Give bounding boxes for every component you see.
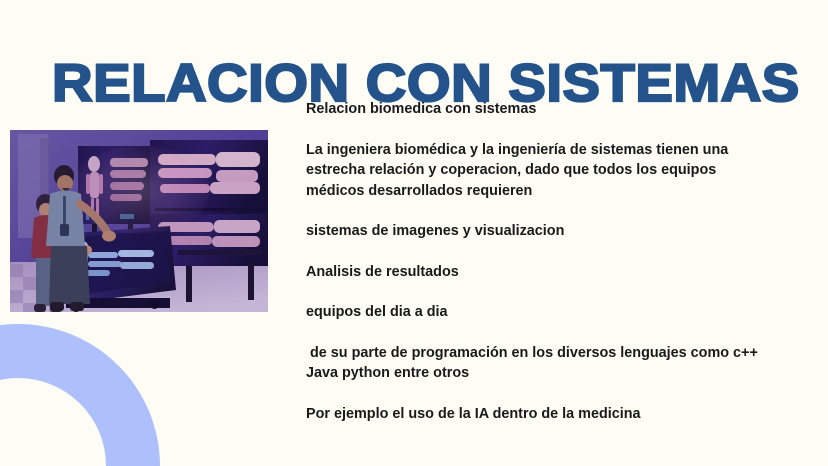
body-text-block: Relacion biomedica con sistemas La ingen… <box>306 99 776 424</box>
anatomy-table-illustration <box>10 130 268 312</box>
body-paragraph-5: equipos del dia a dia <box>306 302 776 323</box>
body-paragraph-4: Analisis de resultados <box>306 262 776 283</box>
body-paragraph-6: de su parte de programación en los diver… <box>306 343 776 384</box>
body-paragraph-1: Relacion biomedica con sistemas <box>306 99 776 120</box>
body-paragraph-7: Por ejemplo el uso de la IA dentro de la… <box>306 404 776 425</box>
body-paragraph-3: sistemas de imagenes y visualizacion <box>306 221 776 242</box>
slide-canvas: RELACION CON SISTEMAS <box>0 0 828 466</box>
body-paragraph-2: La ingeniera biomédica y la ingeniería d… <box>306 140 776 202</box>
anatomy-table-photo <box>10 130 268 312</box>
